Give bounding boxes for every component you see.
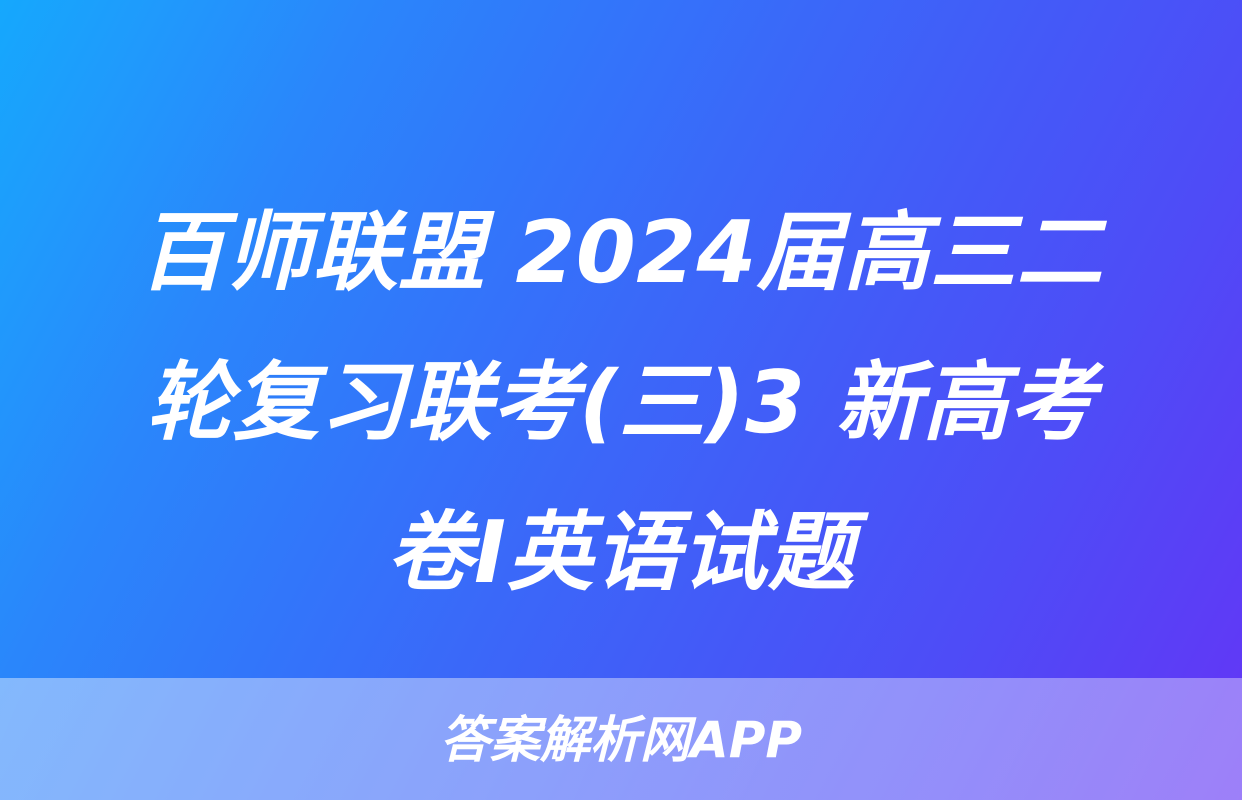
title-line-3: 卷Ⅰ英语试题 [78, 478, 1164, 628]
poster-banner: 百师联盟 2024届高三二 轮复习联考(三)3 新高考 卷Ⅰ英语试题 答案解析网… [0, 0, 1242, 800]
watermark-band: 答案解析网APP [0, 678, 1242, 800]
page-title: 百师联盟 2024届高三二 轮复习联考(三)3 新高考 卷Ⅰ英语试题 [0, 178, 1242, 628]
title-line-1: 百师联盟 2024届高三二 [78, 178, 1164, 328]
watermark-text: 答案解析网APP [440, 715, 802, 765]
title-line-2: 轮复习联考(三)3 新高考 [78, 328, 1164, 478]
